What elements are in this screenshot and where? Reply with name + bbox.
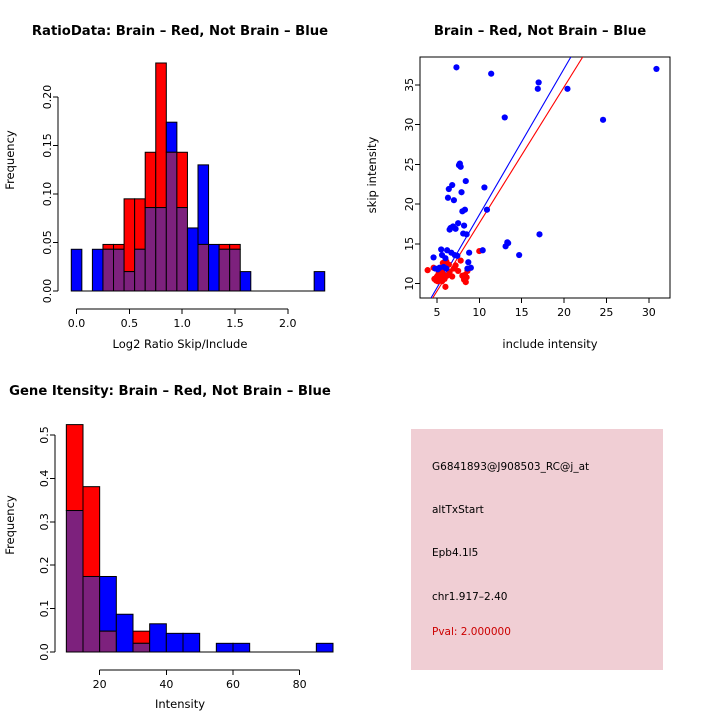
hist-bar-overlap: [124, 272, 135, 291]
scatter-point-not-brain: [468, 265, 474, 271]
annotation-pval: Pval: 2.000000: [432, 626, 511, 638]
hist-bar-not-brain: [198, 165, 209, 245]
scatter-point-not-brain: [463, 178, 469, 184]
annotation-gene-symbol: Epb4.1l5: [432, 547, 478, 559]
scatter-point-not-brain: [451, 197, 457, 203]
svg-text:2.0[interactable]: 2.0: [279, 317, 297, 330]
scatter-point-not-brain: [516, 252, 522, 258]
panel-scatter-plot: Brain – Red, Not Brain – Blue 1015202530…: [360, 0, 720, 360]
svg-text:5[interactable]: 5: [433, 306, 440, 319]
hist-bar-overlap: [198, 244, 209, 291]
hist-bar-overlap: [219, 249, 230, 291]
scatter-point-not-brain: [443, 265, 449, 271]
svg-text:30[interactable]: 30: [403, 118, 416, 132]
hist-bar-brain: [83, 487, 100, 577]
hist-bar-brain: [219, 244, 230, 249]
gene-histogram-title: Gene Itensity: Brain – Red, Not Brain – …: [9, 384, 331, 399]
ratio-histogram-title: RatioData: Brain – Red, Not Brain – Blue: [32, 24, 328, 39]
hist-bar-not-brain: [316, 643, 333, 652]
scatter-plot-title: Brain – Red, Not Brain – Blue: [434, 24, 646, 39]
hist-bar-brain: [177, 152, 188, 207]
scatter-point-not-brain: [505, 240, 511, 246]
svg-text:0.5[interactable]: 0.5: [121, 317, 139, 330]
hist-bar-brain: [230, 244, 241, 249]
scatter-point-not-brain: [458, 189, 464, 195]
hist-bar-overlap: [114, 249, 125, 291]
scatter-point-not-brain: [449, 182, 455, 188]
hist-bar-brain: [133, 631, 150, 643]
scatter-regression-lines: [431, 57, 583, 298]
panel-ratio-histogram: RatioData: Brain – Red, Not Brain – Blue…: [0, 0, 360, 360]
svg-text:15[interactable]: 15: [515, 306, 529, 319]
scatter-point-not-brain: [453, 64, 459, 70]
hist-bar-brain: [145, 152, 156, 207]
scatter-plot-svg: Brain – Red, Not Brain – Blue 1015202530…: [360, 0, 720, 360]
hist-bar-not-brain: [71, 249, 82, 291]
ratio-histogram-ylabel: Frequency: [3, 130, 17, 190]
hist-bar-not-brain: [314, 272, 325, 291]
hist-bar-not-brain: [233, 643, 250, 652]
hist-bar-not-brain: [183, 633, 200, 652]
gene-histogram-ylabel: Frequency: [3, 495, 17, 555]
svg-text:20[interactable]: 20: [403, 197, 416, 211]
hist-bar-not-brain: [116, 614, 133, 652]
hist-bar-overlap: [156, 208, 167, 291]
svg-text:20[interactable]: 20: [93, 678, 107, 691]
svg-text:25[interactable]: 25: [403, 157, 416, 171]
scatter-point-not-brain: [484, 207, 490, 213]
svg-text:0.3[interactable]: 0.3: [38, 513, 51, 531]
figure-root: RatioData: Brain – Red, Not Brain – Blue…: [0, 0, 720, 720]
hist-bar-overlap: [100, 631, 117, 652]
ratio-histogram-bars: [71, 63, 324, 291]
scatter-point-brain: [449, 273, 455, 279]
scatter-point-not-brain: [488, 71, 494, 77]
scatter-frame-box: [420, 57, 670, 298]
hist-bar-brain: [135, 199, 146, 249]
scatter-plot-xlabel: include intensity: [502, 337, 597, 351]
svg-text:30[interactable]: 30: [642, 306, 656, 319]
scatter-plot-frame: [420, 57, 670, 298]
svg-text:20[interactable]: 20: [557, 306, 571, 319]
hist-bar-not-brain: [240, 272, 251, 291]
hist-bar-not-brain: [100, 576, 117, 631]
scatter-point-brain: [442, 284, 448, 290]
scatter-point-not-brain: [462, 207, 468, 213]
svg-text:35[interactable]: 35: [403, 78, 416, 92]
hist-bar-brain: [124, 199, 135, 272]
scatter-point-brain: [452, 262, 458, 268]
scatter-point-not-brain: [430, 254, 436, 260]
svg-text:1.0[interactable]: 1.0: [173, 317, 191, 330]
scatter-point-not-brain: [536, 79, 542, 85]
hist-bar-overlap: [145, 208, 156, 291]
hist-bar-overlap: [230, 249, 241, 291]
regression-line-brain-fit: [433, 57, 583, 298]
scatter-point-not-brain: [452, 226, 458, 232]
hist-bar-brain: [156, 63, 167, 208]
svg-text:40[interactable]: 40: [159, 678, 173, 691]
scatter-point-not-brain: [600, 117, 606, 123]
scatter-point-not-brain: [480, 247, 486, 253]
gene-histogram-bars: [66, 425, 333, 652]
hist-bar-overlap: [66, 511, 83, 652]
scatter-plot-ylabel: skip intensity: [365, 136, 379, 213]
gene-histogram-xlabel: Intensity: [155, 697, 205, 711]
svg-text:0.0[interactable]: 0.0: [68, 317, 86, 330]
hist-bar-overlap: [177, 208, 188, 291]
scatter-point-not-brain: [461, 223, 467, 229]
scatter-point-not-brain: [442, 255, 448, 261]
svg-text:0.1[interactable]: 0.1: [38, 600, 51, 618]
svg-text:0.05[interactable]: 0.05: [41, 230, 54, 255]
hist-bar-not-brain: [150, 624, 167, 652]
hist-bar-overlap: [166, 152, 177, 291]
hist-bar-overlap: [133, 643, 150, 652]
scatter-point-not-brain: [536, 231, 542, 237]
svg-text:0.20[interactable]: 0.20: [41, 85, 54, 110]
hist-bar-not-brain: [209, 244, 220, 291]
svg-text:0.0[interactable]: 0.0: [38, 643, 51, 661]
scatter-plot-points: [425, 64, 660, 290]
scatter-point-not-brain: [653, 66, 659, 72]
scatter-point-brain: [425, 267, 431, 273]
scatter-point-not-brain: [464, 231, 470, 237]
annotation-event-type: altTxStart: [432, 504, 484, 516]
svg-text:1.5[interactable]: 1.5: [226, 317, 244, 330]
scatter-point-not-brain: [455, 220, 461, 226]
annotation-locus: chr1.917–2.40: [432, 591, 507, 603]
svg-text:25[interactable]: 25: [599, 306, 613, 319]
panel-gene-histogram: Gene Itensity: Brain – Red, Not Brain – …: [0, 360, 360, 720]
svg-text:60[interactable]: 60: [226, 678, 240, 691]
hist-bar-brain: [66, 425, 83, 511]
svg-text:0.10[interactable]: 0.10: [41, 182, 54, 207]
hist-bar-not-brain: [187, 228, 198, 291]
svg-text:10[interactable]: 10: [403, 277, 416, 291]
ratio-histogram-svg: RatioData: Brain – Red, Not Brain – Blue…: [0, 0, 360, 360]
panel-annotation: G6841893@J908503_RC@j_at altTxStart Epb4…: [360, 360, 720, 720]
scatter-point-not-brain: [466, 250, 472, 256]
hist-bar-overlap: [135, 249, 146, 291]
hist-bar-not-brain: [216, 643, 233, 652]
hist-bar-overlap: [103, 249, 114, 291]
scatter-point-not-brain: [481, 184, 487, 190]
scatter-point-not-brain: [458, 164, 464, 170]
ratio-histogram-xlabel: Log2 Ratio Skip/Include: [113, 337, 248, 351]
svg-text:80[interactable]: 80: [293, 678, 307, 691]
scatter-point-not-brain: [438, 246, 444, 252]
hist-bar-brain: [103, 244, 114, 249]
annotation-svg: G6841893@J908503_RC@j_at altTxStart Epb4…: [360, 360, 720, 720]
svg-text:0.5[interactable]: 0.5: [38, 426, 51, 444]
svg-text:0.4[interactable]: 0.4: [38, 470, 51, 488]
svg-text:10[interactable]: 10: [472, 306, 486, 319]
hist-bar-not-brain: [92, 249, 103, 291]
scatter-point-not-brain: [445, 195, 451, 201]
annotation-probe-id: G6841893@J908503_RC@j_at: [432, 461, 589, 473]
scatter-point-brain: [455, 268, 461, 274]
scatter-point-not-brain: [535, 86, 541, 92]
scatter-point-not-brain: [454, 253, 460, 259]
scatter-point-not-brain: [502, 114, 508, 120]
hist-bar-brain: [114, 244, 125, 249]
scatter-point-not-brain: [465, 259, 471, 265]
scatter-point-brain: [464, 274, 470, 280]
svg-text:0.00[interactable]: 0.00: [41, 279, 54, 304]
scatter-point-group: [425, 64, 660, 290]
scatter-point-not-brain: [564, 86, 570, 92]
svg-text:15[interactable]: 15: [403, 237, 416, 251]
regression-line-not-brain-fit: [431, 57, 571, 298]
hist-bar-not-brain: [166, 633, 183, 652]
hist-bar-not-brain: [166, 122, 177, 152]
gene-histogram-svg: Gene Itensity: Brain – Red, Not Brain – …: [0, 360, 360, 720]
svg-text:0.15[interactable]: 0.15: [41, 133, 54, 158]
svg-text:0.2[interactable]: 0.2: [38, 556, 51, 574]
hist-bar-overlap: [83, 576, 100, 652]
